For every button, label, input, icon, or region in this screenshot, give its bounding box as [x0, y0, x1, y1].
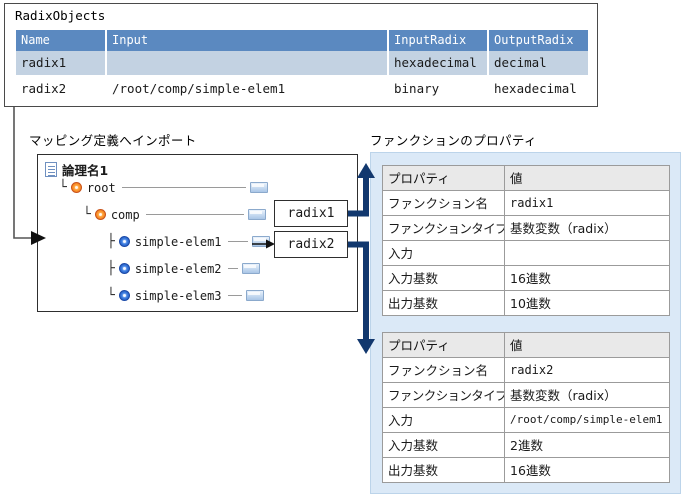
mapping-import-caption: マッピング定義へインポート [29, 130, 197, 149]
cell-input-radix: binary [388, 76, 488, 101]
field-box-icon[interactable] [250, 182, 268, 193]
function-properties-caption: ファンクションのプロパティ [370, 130, 537, 149]
property-key: 入力 [383, 241, 505, 266]
cell-name: radix2 [16, 76, 106, 101]
tree-node-simple-elem1[interactable]: ├ simple-elem1 [107, 234, 270, 249]
cell-input-radix: hexadecimal [388, 51, 488, 76]
radix1-chip-label: radix1 [288, 206, 335, 221]
tree-tee-icon: ├ [107, 261, 115, 276]
radix2-chip[interactable]: radix2 [274, 231, 348, 258]
property-value: 2進数 [505, 433, 670, 458]
radix2-chip-label: radix2 [288, 237, 335, 252]
cell-name: radix1 [16, 51, 106, 76]
tree-node-simple-elem3[interactable]: └ simple-elem3 [107, 288, 264, 303]
blue-node-icon [119, 290, 130, 301]
column-header-property: プロパティ [383, 166, 505, 191]
table-row[interactable]: ファンクションタイプ 基数変数（radix） [383, 383, 670, 408]
function-properties-table-2: プロパティ 値 ファンクション名 radix2 ファンクションタイプ 基数変数（… [382, 332, 670, 483]
leader-line [122, 187, 246, 188]
tree-node-label: root [87, 181, 116, 195]
tree-elbow-icon: └ [107, 288, 115, 303]
radix-objects-panel: RadixObjects Name Input InputRadix Outpu… [4, 3, 598, 107]
tree-node-label: simple-elem1 [135, 235, 222, 249]
column-header-property: プロパティ [383, 333, 505, 358]
table-row[interactable]: 入力基数 2進数 [383, 433, 670, 458]
table-row[interactable]: 出力基数 10進数 [383, 291, 670, 316]
table-header-row: プロパティ 値 [383, 166, 670, 191]
leader-line [228, 295, 242, 296]
table-row[interactable]: radix2 /root/comp/simple-elem1 binary he… [16, 76, 588, 101]
column-header-value: 値 [505, 166, 670, 191]
field-box-icon[interactable] [252, 236, 270, 247]
document-icon [45, 162, 57, 177]
tree-tee-icon: ├ [107, 234, 115, 249]
cell-output-radix: hexadecimal [488, 76, 588, 101]
tree-node-root[interactable]: └ root [59, 180, 268, 195]
table-row[interactable]: ファンクション名 radix1 [383, 191, 670, 216]
property-key: ファンクション名 [383, 358, 505, 383]
cell-input: /root/comp/simple-elem1 [106, 76, 388, 101]
table-row[interactable]: radix1 hexadecimal decimal [16, 51, 588, 76]
orange-node-icon [71, 182, 82, 193]
property-value: radix1 [505, 191, 670, 216]
table-row[interactable]: 入力基数 16進数 [383, 266, 670, 291]
table-row[interactable]: 入力 /root/comp/simple-elem1 [383, 408, 670, 433]
column-header-output-radix: OutputRadix [488, 30, 588, 51]
tree-elbow-icon: └ [83, 207, 91, 222]
table-row[interactable]: 出力基数 16進数 [383, 458, 670, 483]
property-value: /root/comp/simple-elem1 [505, 408, 670, 433]
column-header-name: Name [16, 30, 106, 51]
property-value: 基数変数（radix） [505, 216, 670, 241]
field-box-icon[interactable] [248, 209, 266, 220]
property-key: 出力基数 [383, 458, 505, 483]
radix1-chip[interactable]: radix1 [274, 200, 348, 227]
field-box-icon[interactable] [242, 263, 260, 274]
column-header-value: 値 [505, 333, 670, 358]
property-key: ファンクション名 [383, 191, 505, 216]
property-key: ファンクションタイプ [383, 216, 505, 241]
table-row[interactable]: 入力 [383, 241, 670, 266]
blue-node-icon [119, 263, 130, 274]
tree-node-label: comp [111, 208, 140, 222]
field-box-icon[interactable] [246, 290, 264, 301]
table-header-row: プロパティ 値 [383, 333, 670, 358]
radix-objects-table: Name Input InputRadix OutputRadix radix1… [16, 30, 588, 101]
radix-objects-title: RadixObjects [15, 8, 105, 23]
property-key: 入力 [383, 408, 505, 433]
property-value: radix2 [505, 358, 670, 383]
cell-input [106, 51, 388, 76]
table-row[interactable]: ファンクション名 radix2 [383, 358, 670, 383]
tree-node-label: simple-elem3 [135, 289, 222, 303]
property-key: 入力基数 [383, 266, 505, 291]
table-header-row: Name Input InputRadix OutputRadix [16, 30, 588, 51]
orange-node-icon [95, 209, 106, 220]
blue-node-icon [119, 236, 130, 247]
property-value: 16進数 [505, 458, 670, 483]
tree-elbow-icon: └ [59, 180, 67, 195]
leader-line [146, 214, 244, 215]
leader-line [228, 241, 248, 242]
column-header-input-radix: InputRadix [388, 30, 488, 51]
tree-node-simple-elem2[interactable]: ├ simple-elem2 [107, 261, 260, 276]
leader-line [228, 268, 238, 269]
tree-node-logical-name[interactable]: 論理名1 [45, 160, 108, 179]
property-value: 16進数 [505, 266, 670, 291]
tree-node-label: 論理名1 [62, 160, 108, 179]
property-key: ファンクションタイプ [383, 383, 505, 408]
table-row[interactable]: ファンクションタイプ 基数変数（radix） [383, 216, 670, 241]
property-key: 入力基数 [383, 433, 505, 458]
tree-node-comp[interactable]: └ comp [83, 207, 266, 222]
tree-node-label: simple-elem2 [135, 262, 222, 276]
property-value: 10進数 [505, 291, 670, 316]
function-properties-table-1: プロパティ 値 ファンクション名 radix1 ファンクションタイプ 基数変数（… [382, 165, 670, 316]
property-value [505, 241, 670, 266]
property-value: 基数変数（radix） [505, 383, 670, 408]
cell-output-radix: decimal [488, 51, 588, 76]
property-key: 出力基数 [383, 291, 505, 316]
column-header-input: Input [106, 30, 388, 51]
